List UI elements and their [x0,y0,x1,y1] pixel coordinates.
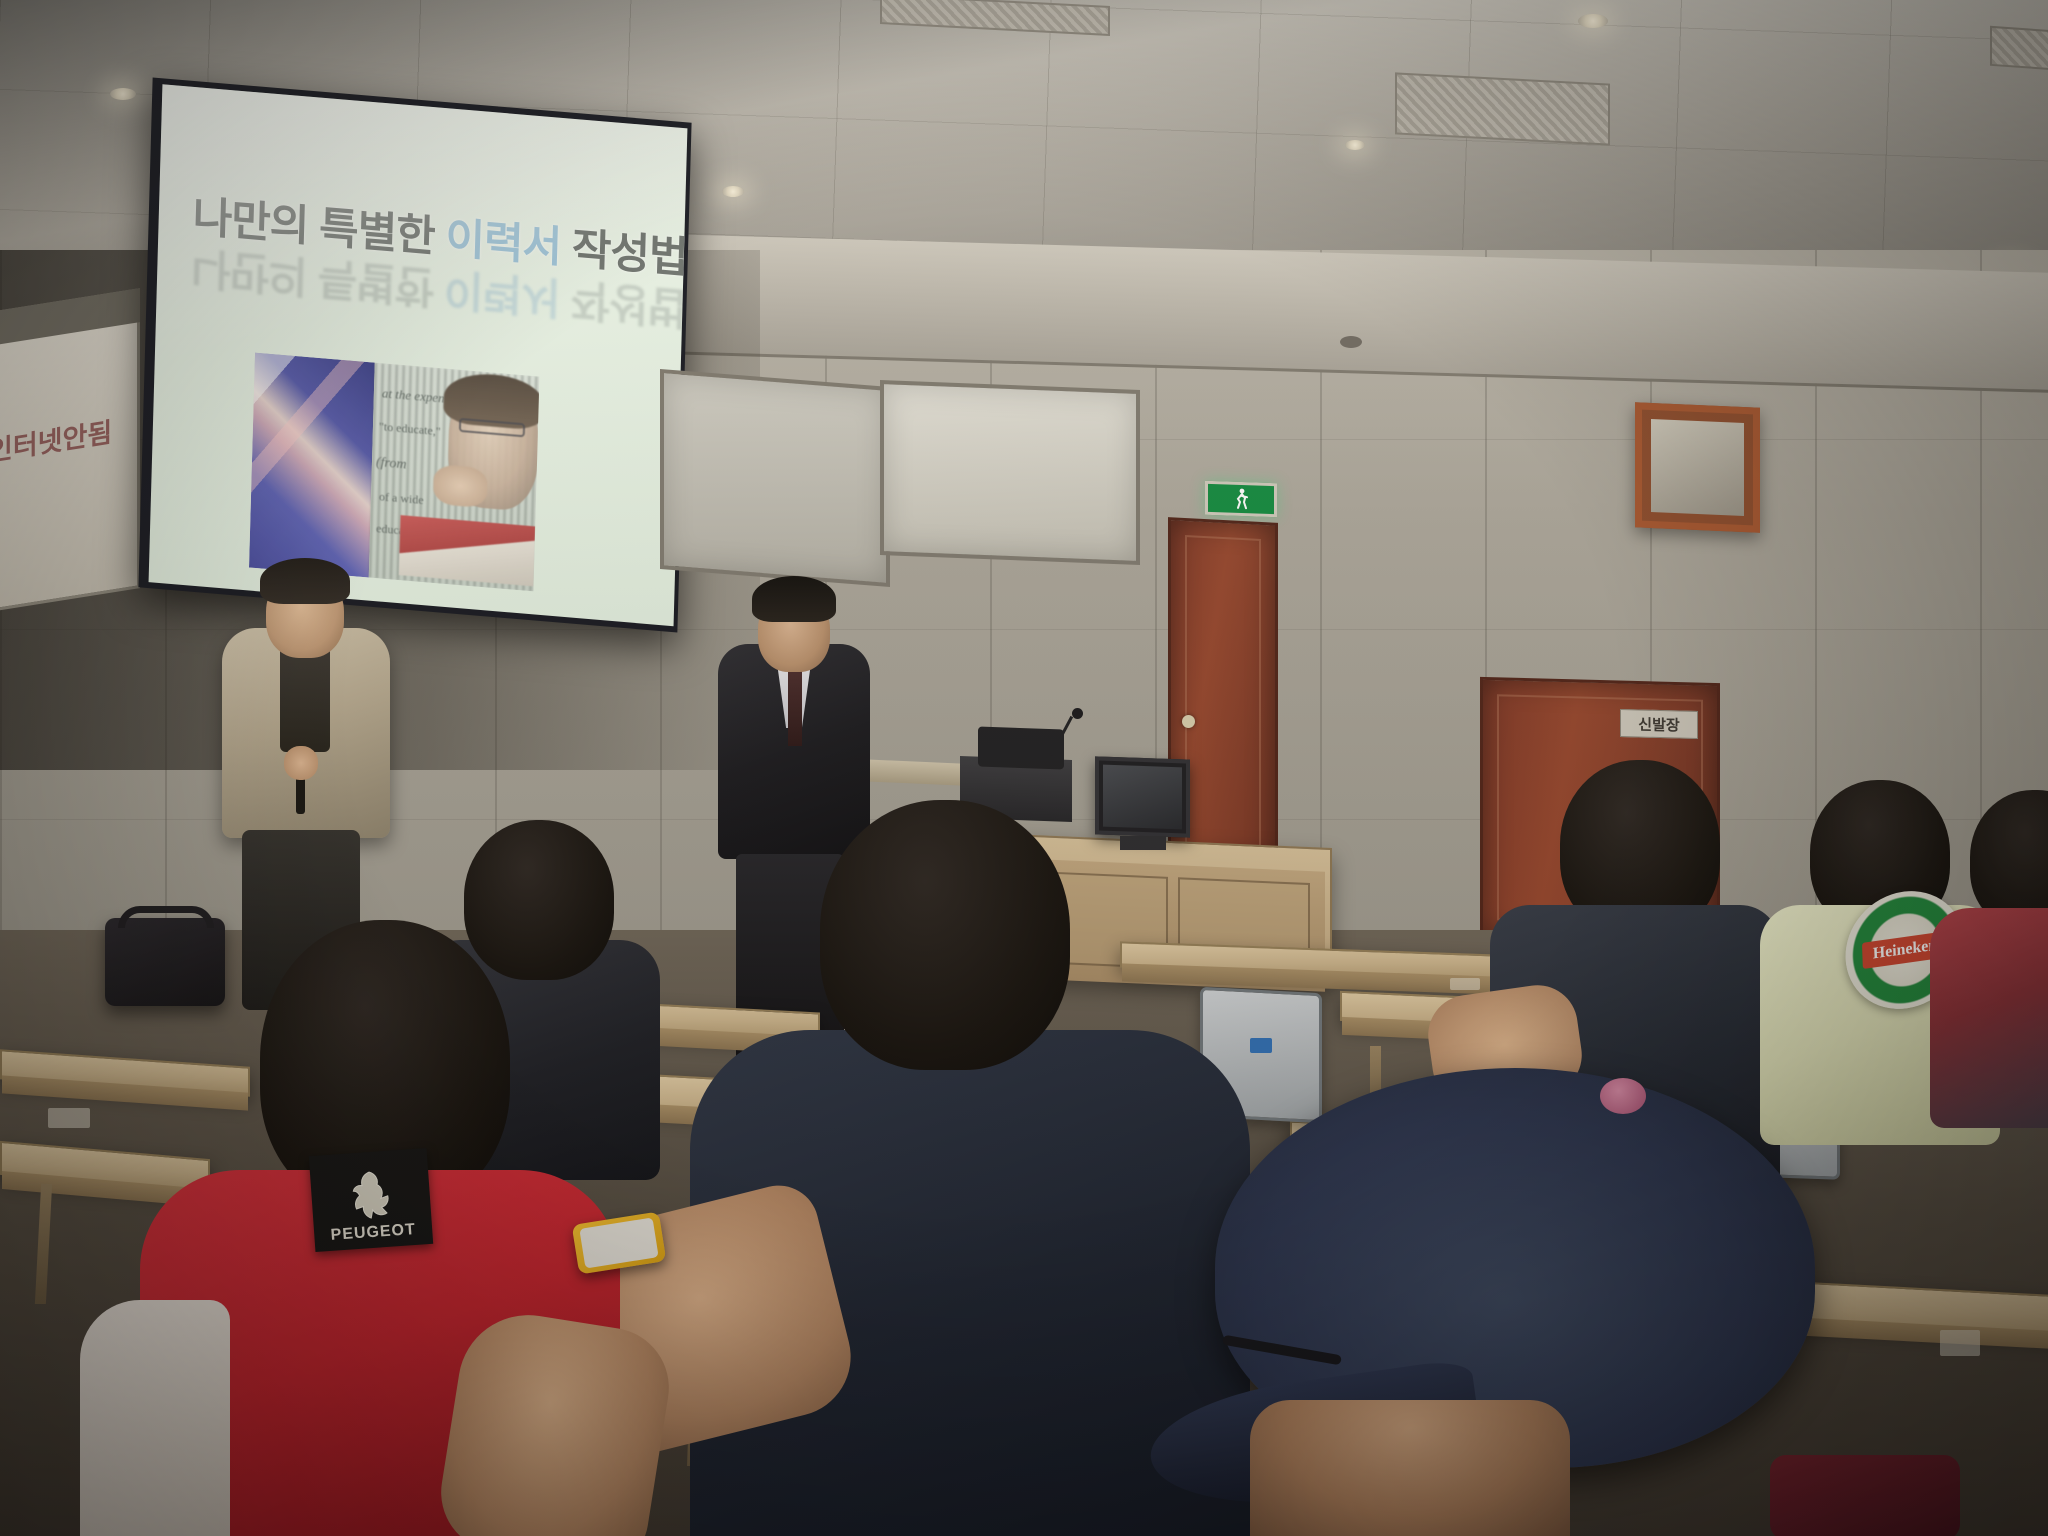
smoke-detector-icon [1340,336,1362,348]
presenter-shirt [280,642,330,752]
downlight-icon [1578,14,1608,28]
bag-on-desk [1770,1455,1960,1536]
desk-label [1940,1330,1980,1356]
ceiling-vent-icon [1395,72,1610,145]
wall-frame-inner [1651,419,1744,516]
microphone-base [978,726,1064,769]
classroom-scene: 인터넷안됨 나만의 특별한 이력서 작성법 나만의 특별한 이력서 작성법 at… [0,0,2048,1536]
slide-photo-abstract-left [249,353,375,578]
presenter-hand [284,746,318,780]
microphone-icon [1072,708,1083,719]
door-knob-icon[interactable] [1182,715,1195,728]
dictionary-word: (from [376,455,407,474]
desk-label [48,1108,90,1128]
emergency-exit-sign [1205,481,1277,518]
student-navy-tshirt-center [690,800,1250,1536]
student-striped-shirt-far-right [1930,790,2048,1100]
desk-label [1450,978,1480,990]
student-undershirt [80,1300,230,1536]
whiteboard-right [880,380,1140,565]
wall-frame [1635,402,1760,532]
whiteboard-left [660,369,890,587]
reflection-part2: 작성법 [559,273,687,332]
necktie [788,664,802,746]
slide-photo-hand [433,464,488,509]
shoulder-bag [105,918,225,1006]
downlight-icon [110,88,136,100]
student-torso [1930,908,2048,1128]
assistant-hair [752,576,836,622]
phone-screen [579,1217,658,1268]
shoe-cabinet-sign: 신발장 [1620,709,1698,739]
presenter-hair [260,558,350,604]
bag-strap [118,906,214,928]
cap-button-icon [1600,1078,1646,1114]
slide-photo-book [399,515,535,586]
downlight-icon [722,186,744,197]
running-person-icon [1233,488,1249,511]
peugeot-logo-badge: PEUGEOT [309,1148,433,1252]
downlight-icon [1345,140,1365,150]
projection-screen: 나만의 특별한 이력서 작성법 나만의 특별한 이력서 작성법 at the e… [149,84,688,626]
student-head [820,800,1070,1070]
chair-tag [1250,1038,1272,1053]
reflection-highlight: 이력서 [443,263,560,321]
peugeot-lion-icon [339,1166,403,1226]
student-face-under-cap [1250,1400,1570,1536]
